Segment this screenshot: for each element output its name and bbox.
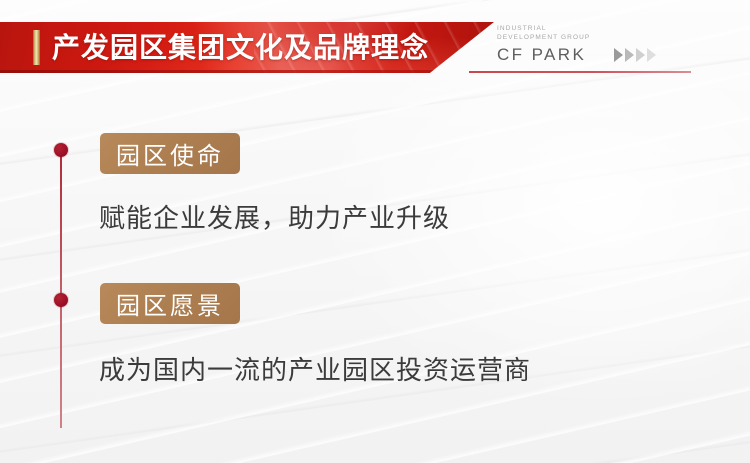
slide-root: 产发园区集团文化及品牌理念 INDUSTRIAL DEVELOPMENT GRO… xyxy=(0,0,750,463)
chevron-right-icon-1 xyxy=(614,48,623,62)
page-title: 产发园区集团文化及品牌理念 xyxy=(52,22,429,73)
section-text-vision: 成为国内一流的产业园区投资运营商 xyxy=(99,350,531,387)
chevron-right-icon-4 xyxy=(647,48,656,62)
logo-brand-name: CF PARK xyxy=(497,45,632,65)
page-header: 产发园区集团文化及品牌理念 INDUSTRIAL DEVELOPMENT GRO… xyxy=(0,0,750,92)
chevron-group xyxy=(614,48,656,62)
logo-subtitle-line-2: DEVELOPMENT GROUP xyxy=(497,33,632,42)
timeline-bullet-dot-1 xyxy=(54,143,68,157)
header-divider-rule xyxy=(469,71,691,73)
chevron-right-icon-3 xyxy=(636,48,645,62)
timeline-vertical-line xyxy=(60,150,62,428)
brand-logo: INDUSTRIAL DEVELOPMENT GROUP CF PARK xyxy=(497,24,632,65)
timeline-bullet-dot-2 xyxy=(54,293,68,307)
section-badge-vision: 园区愿景 xyxy=(100,283,240,324)
section-badge-mission: 园区使命 xyxy=(100,133,240,174)
section-text-mission: 赋能企业发展，助力产业升级 xyxy=(99,198,450,235)
gold-accent-bar xyxy=(33,30,40,65)
logo-subtitle-line-1: INDUSTRIAL xyxy=(497,24,632,33)
chevron-right-icon-2 xyxy=(625,48,634,62)
